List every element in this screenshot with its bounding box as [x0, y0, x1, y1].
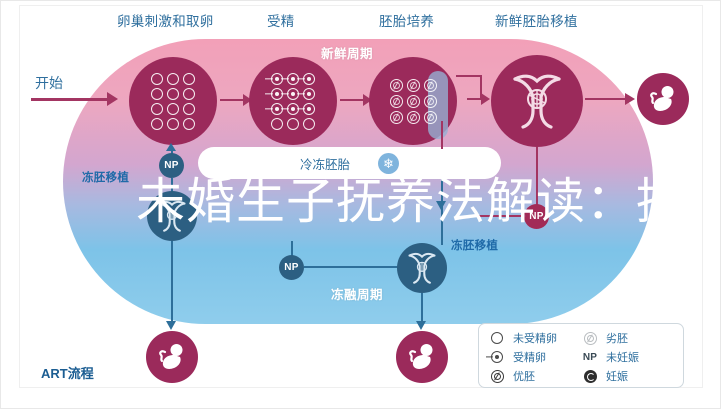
legend-item-poor-embryo: 劣胚 [582, 330, 675, 346]
legend-label: 未受精卵 [513, 330, 557, 346]
unfertilized-oocyte-icon [489, 332, 505, 344]
frozen-embryo-label: 冷冻胚胎 [300, 154, 350, 173]
connector-arrow-4 [625, 93, 635, 105]
frozen-transfer-label-right: 冻胚移植 [451, 237, 498, 253]
fresh-pregnancy-node[interactable] [637, 73, 689, 125]
embryo-culture-node[interactable] [369, 57, 457, 145]
connector-freezebar-arrow [436, 201, 446, 210]
legend-panel: 未受精卵 受精卵 优胚 劣胚 NP 未妊娠 妊娠 [478, 323, 684, 388]
connector-arrow-3 [481, 93, 490, 105]
connector-npright-horizontal [471, 215, 526, 217]
stage-heading-ovarian-stimulation: 卵巢刺激和取卵 [117, 10, 214, 30]
legend-item-good-embryo: 优胚 [489, 368, 582, 384]
cycle-label-frozen-thaw: 冻融周期 [331, 284, 383, 303]
art-process-label: ART流程 [41, 363, 94, 382]
uterus-icon [156, 199, 188, 233]
np-badge-right[interactable]: NP [524, 204, 549, 229]
stage-heading-fresh-embryo-transfer: 新鲜胚胎移植 [495, 10, 578, 30]
np-badge-left[interactable]: NP [159, 153, 184, 178]
legend-item-fertilized-oocyte: 受精卵 [489, 349, 582, 365]
connector-bottom-uterus-arrow [416, 321, 426, 330]
connector-uterusleft-arrow [166, 321, 176, 330]
poor-embryo-icon [582, 332, 598, 345]
legend-label: 妊娠 [606, 368, 628, 384]
np-text-icon: NP [582, 352, 598, 363]
connector-uterus-to-npright [536, 147, 538, 205]
start-arrow-line [31, 98, 109, 101]
embryo-grid-icon [369, 57, 457, 145]
pregnancy-icon [582, 370, 598, 383]
fertilized-oocyte-icon [489, 351, 505, 363]
frozen-transfer-uterus-node-bottom[interactable] [397, 243, 447, 293]
start-label: 开始 [35, 73, 63, 93]
legend-item-pregnancy: 妊娠 [582, 368, 675, 384]
fertilization-node[interactable] [249, 57, 337, 145]
frozen-transfer-label-left: 冻胚移植 [82, 169, 129, 185]
connector-oocyte-to-fertilization [220, 99, 245, 101]
connector-culture-elbow-top [456, 75, 482, 77]
good-embryo-icon [489, 370, 505, 383]
fetus-icon [646, 82, 680, 116]
legend-column-right: 劣胚 NP 未妊娠 妊娠 [582, 330, 675, 383]
connector-node1-up-arrow [166, 143, 176, 151]
fresh-transfer-uterus-node[interactable] [491, 55, 583, 147]
frozen-embryo-bar: 冷冻胚胎 ❄ [198, 147, 501, 179]
np-badge-bottom[interactable]: NP [279, 255, 304, 280]
fetus-icon [155, 340, 189, 374]
legend-label: 未妊娠 [606, 349, 639, 365]
diagram-canvas: 卵巢刺激和取卵 受精 胚胎培养 新鲜胚胎移植 开始 新鲜周期 [0, 0, 721, 409]
connector-uterus-to-pregnancy [585, 98, 627, 100]
snowflake-icon: ❄ [378, 153, 399, 174]
uterus-icon [509, 71, 565, 131]
connector-np-to-bottom-uterus [304, 266, 404, 268]
frozen-transfer-uterus-node-left[interactable] [147, 191, 197, 241]
connector-uterusleft-down [171, 241, 173, 325]
oocyte-retrieval-node[interactable] [129, 57, 217, 145]
legend-label: 劣胚 [606, 330, 628, 346]
legend-label: 优胚 [513, 368, 535, 384]
frozen-pregnancy-node-bottom[interactable] [396, 331, 448, 383]
uterus-icon [406, 251, 438, 285]
stage-heading-fertilization: 受精 [267, 10, 295, 30]
frozen-pregnancy-node-left[interactable] [146, 331, 198, 383]
connector-fertilization-to-culture [340, 99, 365, 101]
start-arrow-head [107, 92, 118, 106]
fetus-icon [405, 340, 439, 374]
legend-item-not-pregnant: NP 未妊娠 [582, 349, 675, 365]
fertilized-oocyte-grid-icon [249, 57, 337, 145]
oocyte-grid-icon [129, 57, 217, 145]
stage-heading-embryo-culture: 胚胎培养 [379, 10, 434, 30]
connector-freezebar-down [441, 179, 443, 245]
legend-column-left: 未受精卵 受精卵 优胚 [489, 330, 582, 383]
legend-label: 受精卵 [513, 349, 546, 365]
legend-item-unfertilized-oocyte: 未受精卵 [489, 330, 582, 346]
connector-culture-to-freezebar [441, 121, 443, 149]
